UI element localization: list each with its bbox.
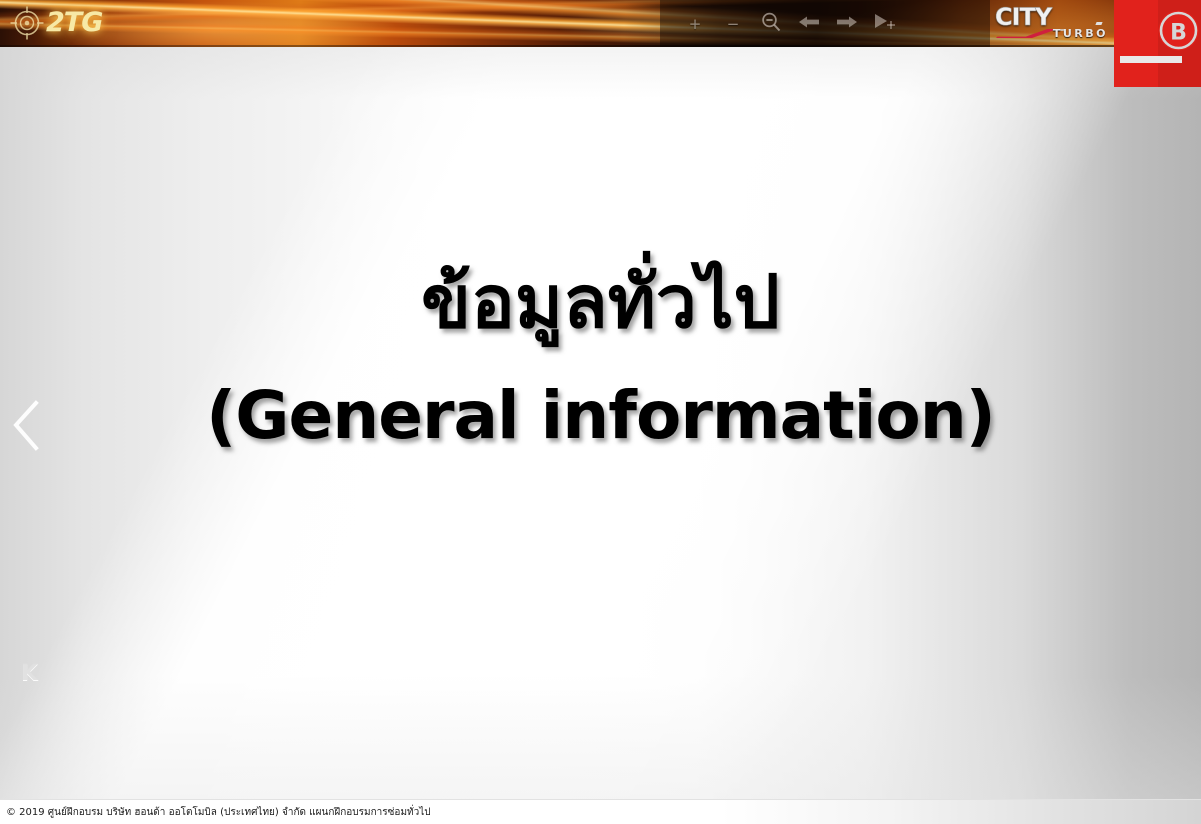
plus-icon: +: [689, 17, 702, 32]
zoom-out-button[interactable]: −: [714, 11, 752, 37]
badge-letter-b: B: [1170, 21, 1187, 46]
footer-copyright: © 2019 ศูนย์ฝึกอบรม บริษัท ฮอนด้า ออโตโม…: [6, 805, 431, 820]
footer-bar: © 2019 ศูนย์ฝึกอบรม บริษัท ฮอนด้า ออโตโม…: [0, 799, 1201, 824]
brand-logo-2tg[interactable]: 2TG: [10, 4, 102, 42]
banner-bottom-edge: [0, 45, 1201, 47]
slide-title-thai: ข้อมูลทั่วไป: [0, 262, 1201, 344]
arrow-right-icon: [836, 14, 858, 34]
zoom-in-button[interactable]: +: [676, 11, 714, 37]
pointer-button[interactable]: [866, 11, 904, 37]
magnifier-minus-icon: [760, 11, 782, 37]
brand-logo-text: 2TG: [46, 6, 102, 40]
arrow-left-icon: [798, 14, 820, 34]
viewer-toolbar: + −: [676, 11, 904, 37]
slide-title-english: (General information): [0, 380, 1201, 453]
badge-gear-circle-icon: B: [1156, 8, 1201, 53]
section-badge-b: B: [1114, 0, 1201, 87]
pointer-move-icon: [873, 12, 897, 36]
product-logo-city-turbo: CITY TURBO: [990, 2, 1110, 44]
turbo-wordmark: TURBO: [1053, 27, 1108, 40]
next-button[interactable]: [828, 11, 866, 37]
minus-icon: −: [727, 17, 740, 32]
badge-white-bar: [1120, 56, 1182, 63]
presentation-viewer: K ข้อมูลทั่วไป (General information) 2TG: [0, 0, 1201, 824]
slide-title-block: ข้อมูลทั่วไป (General information): [0, 262, 1201, 452]
previous-button[interactable]: [790, 11, 828, 37]
magnifier-button[interactable]: [752, 11, 790, 37]
watermark-letter: K: [21, 661, 38, 686]
target-crosshair-icon: [10, 6, 44, 40]
city-accent-dash-icon: [1095, 22, 1102, 25]
